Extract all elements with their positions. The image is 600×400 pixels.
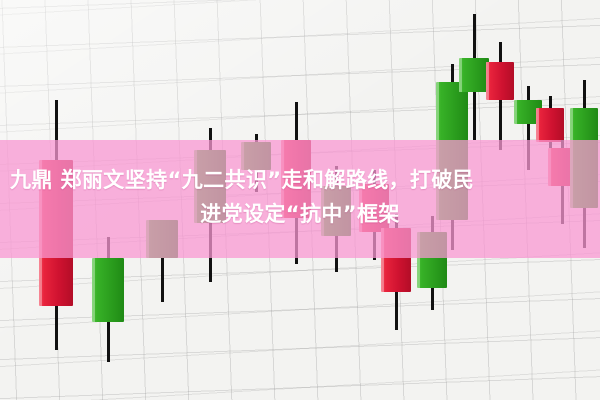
- candle-body-down: [536, 108, 564, 142]
- headline-text: 九鼎 郑丽文坚持“九二共识”走和解路线，打破民 进党设定“抗中”框架: [0, 163, 600, 231]
- candle-body-up: [92, 258, 124, 322]
- candle-11: [459, 14, 489, 140]
- candle-body-up: [459, 58, 489, 92]
- screenshot-canvas: 九鼎 郑丽文坚持“九二共识”走和解路线，打破民 进党设定“抗中”框架: [0, 0, 600, 400]
- headline-line-2: 进党设定“抗中”框架: [0, 197, 600, 231]
- candle-12: [486, 42, 514, 150]
- candle-body-down: [486, 62, 514, 100]
- headline-line-1: 九鼎 郑丽文坚持“九二共识”走和解路线，打破民: [0, 163, 600, 197]
